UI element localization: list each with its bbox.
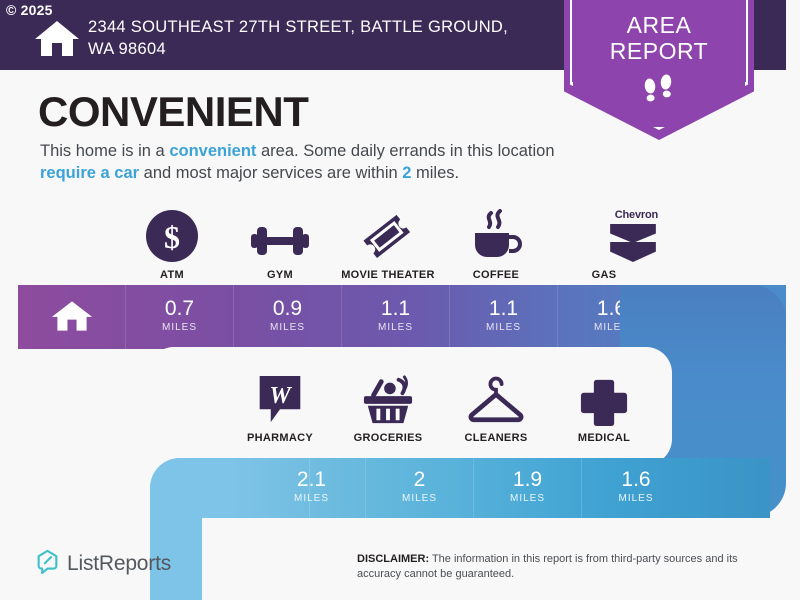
distance-unit: MILES bbox=[582, 493, 690, 504]
amenity-label: GROCERIES bbox=[334, 432, 442, 444]
listreports-pin-icon bbox=[36, 549, 59, 579]
property-address: 2344 SOUTHEAST 27TH STREET, BATTLE GROUN… bbox=[88, 16, 538, 60]
distance-unit: MILES bbox=[366, 493, 473, 504]
medical-cross-icon bbox=[550, 368, 658, 426]
area-report-page: © 2025 2344 SOUTHEAST 27TH STREET, BATTL… bbox=[0, 0, 800, 600]
distance-value: 1.1 bbox=[450, 285, 557, 320]
dumbbell-icon bbox=[226, 205, 334, 263]
amenity-medical: MEDICAL bbox=[550, 368, 658, 444]
bar-1-cell-movie-theater: 1.1 MILES bbox=[342, 285, 450, 349]
coffee-cup-icon bbox=[442, 205, 550, 263]
badge-line-1: AREA bbox=[560, 12, 758, 38]
badge-title: AREA REPORT bbox=[560, 12, 758, 64]
disclaimer: DISCLAIMER: The information in this repo… bbox=[357, 552, 777, 582]
distance-unit: MILES bbox=[126, 322, 233, 333]
movie-ticket-icon bbox=[334, 205, 442, 263]
amenity-groceries: GROCERIES bbox=[334, 368, 442, 444]
bar-1-cell-coffee: 1.1 MILES bbox=[450, 285, 558, 349]
distance-unit: MILES bbox=[450, 322, 557, 333]
distance-value: 1.1 bbox=[342, 285, 449, 320]
house-icon bbox=[18, 285, 125, 338]
amenity-label: COFFEE bbox=[442, 269, 550, 281]
summary-highlight-require-a-car: require a car bbox=[40, 164, 139, 182]
chevron-gas-icon: Chevron bbox=[550, 198, 658, 263]
svg-text:$: $ bbox=[164, 219, 180, 255]
amenity-pharmacy: W PHARMACY bbox=[226, 368, 334, 444]
clothes-hanger-icon bbox=[442, 368, 550, 426]
walgreens-w-icon: W bbox=[226, 368, 334, 426]
summary-part-3: and most major services are within bbox=[139, 164, 402, 182]
area-report-badge: AREA REPORT bbox=[560, 0, 758, 148]
distance-unit: MILES bbox=[342, 322, 449, 333]
distance-unit: MILES bbox=[474, 493, 581, 504]
bar-1-cell-atm: 0.7 MILES bbox=[126, 285, 234, 349]
disclaimer-label: DISCLAIMER: bbox=[357, 553, 429, 565]
distance-unit: MILES bbox=[234, 322, 341, 333]
amenity-label: GYM bbox=[226, 269, 334, 281]
summary-part-4: miles. bbox=[411, 164, 459, 182]
amenity-label: CLEANERS bbox=[442, 432, 550, 444]
page-title: CONVENIENT bbox=[38, 88, 308, 136]
listreports-logo: ListReports bbox=[36, 549, 171, 579]
badge-line-2: REPORT bbox=[560, 38, 758, 64]
listreports-wordmark: ListReports bbox=[67, 552, 171, 576]
amenity-label: ATM bbox=[118, 269, 226, 281]
bar-1-cell-gym: 0.9 MILES bbox=[234, 285, 342, 349]
left-column-notch bbox=[202, 520, 262, 600]
distance-value: 0.9 bbox=[234, 285, 341, 320]
distance-value: 2 bbox=[366, 458, 473, 491]
home-icon bbox=[34, 18, 80, 58]
bar-1-home-cell bbox=[18, 285, 126, 349]
amenity-label: GAS bbox=[550, 269, 658, 281]
distance-value: 2.1 bbox=[258, 458, 365, 491]
distance-bar-row-2: 2.1 MILES 2 MILES 1.9 MILES 1.6 MILES bbox=[150, 458, 770, 518]
summary-highlight-convenient: convenient bbox=[169, 142, 256, 160]
bar-2-cell-medical: 1.6 MILES bbox=[582, 458, 690, 518]
amenity-coffee: COFFEE bbox=[442, 205, 550, 281]
copyright-label: © 2025 bbox=[6, 2, 53, 18]
distance-value: 1.9 bbox=[474, 458, 581, 491]
svg-text:W: W bbox=[269, 383, 292, 409]
bar-2-cell-cleaners: 1.9 MILES bbox=[474, 458, 582, 518]
chevron-wordmark: Chevron bbox=[615, 209, 658, 221]
distance-value: 1.6 bbox=[582, 458, 690, 491]
amenity-movie-theater: MOVIE THEATER bbox=[334, 205, 442, 281]
bar-2-cell-pharmacy: 2.1 MILES bbox=[258, 458, 366, 518]
distance-value: 0.7 bbox=[126, 285, 233, 320]
distance-unit: MILES bbox=[258, 493, 365, 504]
amenity-gas: Chevron GAS bbox=[550, 198, 658, 281]
grocery-basket-icon bbox=[334, 368, 442, 426]
amenity-label: PHARMACY bbox=[226, 432, 334, 444]
bar-2-cell-groceries: 2 MILES bbox=[366, 458, 474, 518]
amenity-gym: GYM bbox=[226, 205, 334, 281]
summary-part-2: area. Some daily errands in this locatio… bbox=[256, 142, 554, 160]
amenity-label: MOVIE THEATER bbox=[334, 269, 442, 281]
summary-text: This home is in a convenient area. Some … bbox=[40, 140, 570, 184]
atm-dollar-icon: $ bbox=[118, 205, 226, 263]
footprints-icon bbox=[560, 74, 758, 113]
summary-part-1: This home is in a bbox=[40, 142, 169, 160]
amenity-cleaners: CLEANERS bbox=[442, 368, 550, 444]
amenity-label: MEDICAL bbox=[550, 432, 658, 444]
amenity-atm: $ ATM bbox=[118, 205, 226, 281]
